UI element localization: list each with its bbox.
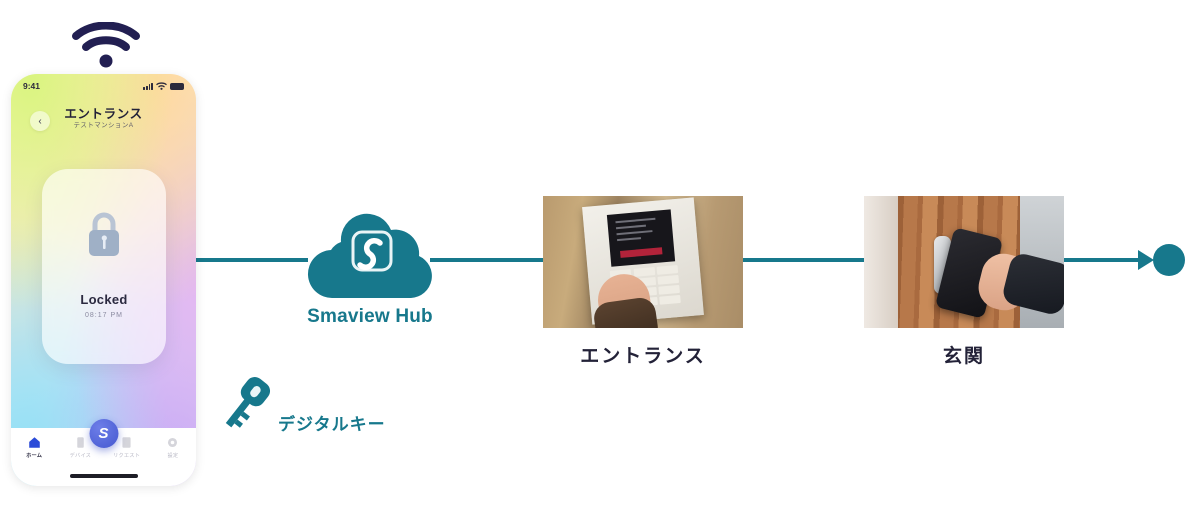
page-subtitle: テストマンションA (11, 119, 196, 129)
tab-settings[interactable]: 設定 (150, 436, 196, 459)
entrance-photo-label: エントランス (543, 341, 743, 368)
cellular-signal-icon (143, 82, 153, 90)
tab-devices-label: デバイス (70, 452, 91, 459)
entrance-photo (543, 196, 743, 328)
status-time: 9:41 (23, 81, 40, 91)
phone-status-bar: 9:41 (11, 78, 196, 94)
diagram-canvas: 9:41 ‹ エントランス テストマンションA L (0, 0, 1200, 526)
arrow-head-icon (1138, 250, 1154, 270)
battery-icon (170, 83, 184, 90)
padlock-locked-icon (81, 207, 127, 263)
home-indicator (70, 474, 138, 478)
lock-timestamp: 08:17 PM (42, 312, 166, 319)
intercom-keypad-photo (543, 196, 743, 328)
smaview-logo-icon: S (98, 425, 108, 442)
device-icon (74, 436, 87, 449)
connector-genkan-to-endpoint (1064, 258, 1140, 262)
genkan-photo-label: 玄関 (864, 341, 1064, 368)
tab-settings-label: 設定 (167, 452, 178, 459)
endpoint-dot-icon (1153, 244, 1185, 276)
connector-phone-to-hub (196, 258, 308, 262)
home-icon (28, 436, 41, 449)
wifi-status-icon (156, 82, 167, 90)
phone-mockup: 9:41 ‹ エントランス テストマンションA L (11, 74, 196, 486)
document-icon (120, 436, 133, 449)
digital-key-label: デジタルキー (278, 410, 386, 435)
hub-label: Smaview Hub (280, 306, 460, 328)
genkan-photo (864, 196, 1064, 328)
smaview-fab-button[interactable]: S (89, 419, 118, 448)
tab-home-label: ホーム (26, 452, 42, 459)
tab-requests-label: リクエスト (113, 452, 140, 459)
wifi-icon (72, 22, 140, 70)
tab-home[interactable]: ホーム (11, 436, 57, 459)
lock-status-card[interactable]: Locked 08:17 PM (42, 169, 166, 364)
cloud-icon (297, 198, 445, 310)
gear-icon (166, 436, 179, 449)
connector-hub-to-entrance (430, 258, 545, 262)
smart-lock-door-photo (864, 196, 1064, 328)
connector-entrance-to-genkan (742, 258, 866, 262)
lock-state-label: Locked (42, 292, 166, 307)
key-icon (216, 372, 272, 434)
